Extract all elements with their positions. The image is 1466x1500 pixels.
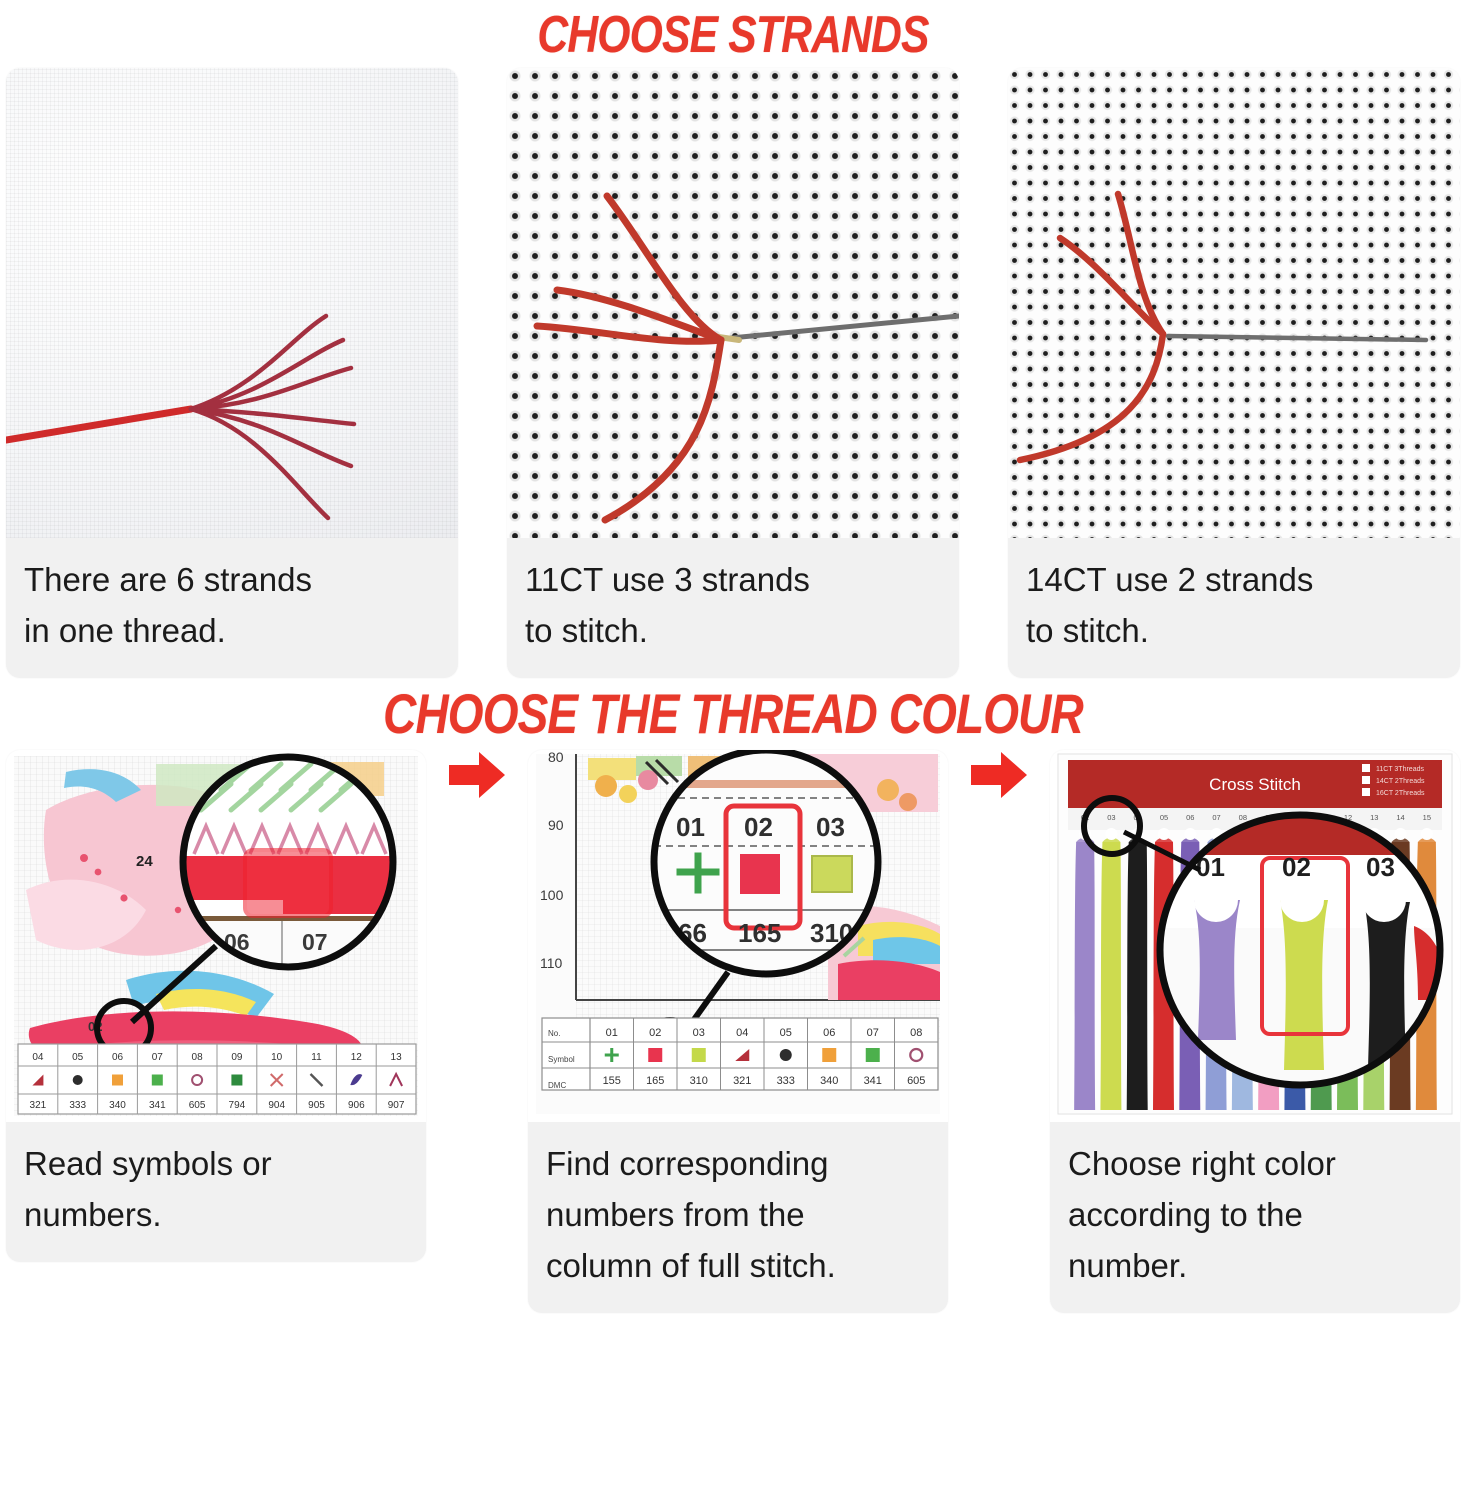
legend-dmc-number: 333 [777, 1075, 795, 1087]
magnifier-col-02: 02 [744, 812, 773, 842]
legend-col-number: 03 [693, 1027, 705, 1039]
photo-six-strands [6, 68, 458, 538]
legend-col-number: 12 [351, 1052, 363, 1063]
six-strands-illustration [6, 68, 458, 538]
page-title-choose-strands: CHOOSE STRANDS [132, 0, 1334, 68]
legend-row-label: DMC [548, 1081, 566, 1090]
legend-col-number: 05 [72, 1052, 84, 1063]
caption-line-3: number. [1068, 1240, 1442, 1291]
legend-dmc-number: 310 [690, 1075, 708, 1087]
legend-dmc-number: 904 [268, 1100, 285, 1111]
magnifier-col-03: 03 [816, 812, 845, 842]
strand-panel-row: There are 6 strands in one thread. 11CT … [0, 68, 1466, 678]
photo-thread-card: Cross Stitch 11CT 3Threads14CT 2Threads1… [1050, 750, 1460, 1122]
legend-col-number: 13 [391, 1052, 403, 1063]
thread-number: 15 [1423, 813, 1431, 822]
pattern-chart-illustration: 24 02 [6, 750, 426, 1122]
caption-line-2: to stitch. [525, 605, 941, 656]
caption-line-2: to stitch. [1026, 605, 1442, 656]
thread-number: 14 [1396, 813, 1404, 822]
thread-number: 07 [1212, 813, 1220, 822]
thread-number: 08 [1239, 813, 1247, 822]
svg-text:110: 110 [540, 955, 563, 971]
arrow-1-container [448, 750, 506, 1010]
legend-col-number: 07 [867, 1027, 879, 1039]
caption-line-2: in one thread. [24, 605, 440, 656]
card-option-label: 11CT 3Threads [1376, 766, 1424, 773]
caption-line-1: Choose right color [1068, 1138, 1442, 1189]
photo-14ct-aida [1008, 68, 1460, 538]
photo-11ct-aida [507, 68, 959, 538]
thread-hole [1158, 828, 1170, 840]
legend-dmc-number: 605 [907, 1075, 925, 1087]
legend-dmc-number: 605 [189, 1100, 206, 1111]
legend-dmc-number: 321 [733, 1075, 751, 1087]
legend-dmc-number: 794 [229, 1100, 246, 1111]
thread-number: 06 [1186, 813, 1194, 822]
legend-table: No.SymbolDMC 011550216503310043210533306… [542, 1018, 938, 1090]
two-strands-needle-illustration [1008, 68, 1460, 538]
legend-symbol [73, 1075, 83, 1085]
panel-read-symbols: 24 02 [6, 750, 426, 1262]
full-stitch-chart-illustration: 80 90 100 110 [528, 750, 948, 1122]
caption-line-3: column of full stitch. [546, 1240, 930, 1291]
legend-dmc-number: 341 [149, 1100, 166, 1111]
legend-col-number: 01 [606, 1027, 618, 1039]
legend-col-number: 07 [152, 1052, 164, 1063]
legend-symbol [866, 1048, 880, 1062]
legend-dmc-number: 907 [388, 1100, 405, 1111]
legend-col-number: 08 [910, 1027, 922, 1039]
legend-dmc-number: 341 [864, 1075, 882, 1087]
panel-choose-color: Cross Stitch 11CT 3Threads14CT 2Threads1… [1050, 750, 1460, 1313]
colour-panel-row: 24 02 [0, 750, 1466, 1313]
svg-text:100: 100 [540, 887, 564, 903]
card-option-label: 14CT 2Threads [1376, 778, 1425, 785]
card-option-checkbox[interactable] [1362, 764, 1370, 772]
legend-row-label: No. [548, 1029, 560, 1038]
legend-col-number: 08 [192, 1052, 204, 1063]
legend-row-label: Symbol [548, 1055, 575, 1064]
thread-skein [1100, 842, 1121, 1110]
needle-shape [731, 316, 959, 338]
photo-pattern-chart: 24 02 [6, 750, 426, 1122]
legend-dmc-number: 905 [308, 1100, 325, 1111]
caption-11ct: 11CT use 3 strands to stitch. [507, 538, 959, 678]
chart-number-24: 24 [136, 853, 153, 870]
caption-line-1: Read symbols or [24, 1138, 408, 1189]
legend-dmc-number: 333 [69, 1100, 86, 1111]
legend-symbol [648, 1048, 662, 1062]
caption-line-1: Find corresponding [546, 1138, 930, 1189]
three-strands-needle-illustration [507, 68, 959, 538]
thread-skein [1074, 842, 1095, 1110]
legend-dmc-number: 165 [646, 1075, 664, 1087]
magnifier-col-03: 03 [1366, 852, 1395, 882]
page-title-choose-thread-colour: CHOOSE THE THREAD COLOUR [132, 678, 1334, 750]
caption-14ct: 14CT use 2 strands to stitch. [1008, 538, 1460, 678]
legend-symbol [112, 1075, 123, 1086]
panel-six-strands: There are 6 strands in one thread. [6, 68, 458, 678]
panel-find-numbers: 80 90 100 110 [528, 750, 948, 1313]
svg-text:90: 90 [548, 817, 564, 833]
legend-table: 0432105333063400734108605097941090411905… [18, 1044, 416, 1114]
caption-read-symbols: Read symbols or numbers. [6, 1122, 426, 1262]
thread-card-illustration: Cross Stitch 11CT 3Threads14CT 2Threads1… [1050, 750, 1460, 1122]
thread-number: 03 [1107, 813, 1115, 822]
legend-symbol [231, 1075, 242, 1086]
needle-shape [1168, 336, 1426, 340]
legend-col-number: 10 [271, 1052, 283, 1063]
legend-col-number: 11 [311, 1052, 322, 1063]
thread-hole [1395, 828, 1407, 840]
legend-col-number: 06 [112, 1052, 124, 1063]
magnifier-label-07: 07 [302, 929, 328, 955]
caption-line-1: 14CT use 2 strands [1026, 554, 1442, 605]
thread-skein [1127, 842, 1148, 1110]
legend-dmc-number: 321 [30, 1100, 47, 1111]
panel-14ct: 14CT use 2 strands to stitch. [1008, 68, 1460, 678]
legend-col-number: 04 [736, 1027, 748, 1039]
caption-line-2: according to the [1068, 1189, 1442, 1240]
legend-symbol [692, 1048, 706, 1062]
legend-col-number: 02 [649, 1027, 661, 1039]
caption-line-1: There are 6 strands [24, 554, 440, 605]
legend-symbol [152, 1075, 163, 1086]
thread-hole [1105, 828, 1117, 840]
photo-full-stitch-chart: 80 90 100 110 [528, 750, 948, 1122]
card-option-checkbox[interactable] [1362, 788, 1370, 796]
thread-hole [1421, 828, 1433, 840]
caption-choose-color: Choose right color according to the numb… [1050, 1122, 1460, 1313]
legend-dmc-number: 155 [603, 1075, 621, 1087]
legend-col-number: 09 [231, 1052, 243, 1063]
legend-dmc-number: 340 [820, 1075, 838, 1087]
thread-number: 13 [1370, 813, 1378, 822]
caption-six-strands: There are 6 strands in one thread. [6, 538, 458, 678]
card-option-checkbox[interactable] [1362, 776, 1370, 784]
thread-hole [1184, 828, 1196, 840]
legend-symbol [822, 1048, 836, 1062]
legend-symbol [780, 1049, 792, 1061]
svg-text:80: 80 [548, 750, 564, 765]
magnifier-col-01: 01 [676, 812, 705, 842]
legend-col-number: 04 [32, 1052, 44, 1063]
card-option-label: 16CT 2Threads [1376, 790, 1425, 797]
caption-find-numbers: Find corresponding numbers from the colu… [528, 1122, 948, 1313]
magnifier-col-02: 02 [1282, 852, 1311, 882]
panel-11ct: 11CT use 3 strands to stitch. [507, 68, 959, 678]
thread-number: 05 [1160, 813, 1168, 822]
caption-line-1: 11CT use 3 strands [525, 554, 941, 605]
arrow-2-container [970, 750, 1028, 1010]
right-arrow-icon [971, 750, 1027, 800]
legend-col-number: 05 [780, 1027, 792, 1039]
legend-col-number: 06 [823, 1027, 835, 1039]
card-title: Cross Stitch [1209, 775, 1301, 794]
magnifier-num-165: 165 [738, 918, 781, 948]
caption-line-2: numbers from the [546, 1189, 930, 1240]
legend-dmc-number: 906 [348, 1100, 365, 1111]
right-arrow-icon [449, 750, 505, 800]
caption-line-2: numbers. [24, 1189, 408, 1240]
legend-dmc-number: 340 [109, 1100, 126, 1111]
